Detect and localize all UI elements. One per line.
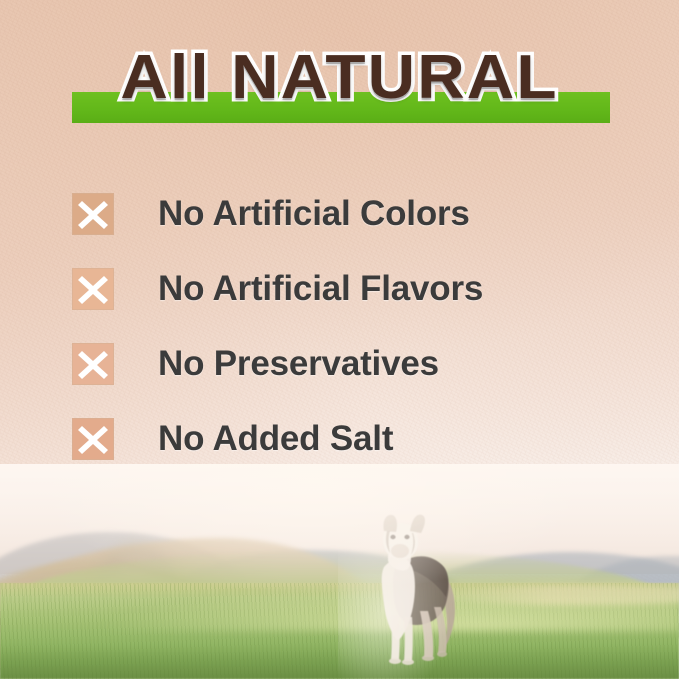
list-item: No Preservatives bbox=[72, 326, 632, 401]
x-mark-icon bbox=[72, 418, 114, 460]
claims-list: No Artificial Colors No Artificial Flavo… bbox=[72, 176, 632, 476]
x-mark-icon bbox=[72, 268, 114, 310]
list-item: No Added Salt bbox=[72, 401, 632, 476]
sun-glow bbox=[0, 561, 679, 631]
claim-label: No Added Salt bbox=[158, 419, 393, 459]
landscape-photo bbox=[0, 464, 679, 679]
product-feature-card: All NATURAL No Artificial Colors No Arti… bbox=[0, 0, 679, 679]
grass-shadow bbox=[0, 645, 679, 679]
claim-label: No Preservatives bbox=[158, 344, 439, 384]
claim-label: No Artificial Colors bbox=[158, 194, 470, 234]
list-item: No Artificial Flavors bbox=[72, 251, 632, 326]
list-item: No Artificial Colors bbox=[72, 176, 632, 251]
x-mark-icon bbox=[72, 193, 114, 235]
dog-photo-subject bbox=[358, 511, 468, 671]
claim-label: No Artificial Flavors bbox=[158, 269, 483, 309]
page-title: All NATURAL bbox=[0, 47, 679, 109]
x-mark-icon bbox=[72, 343, 114, 385]
